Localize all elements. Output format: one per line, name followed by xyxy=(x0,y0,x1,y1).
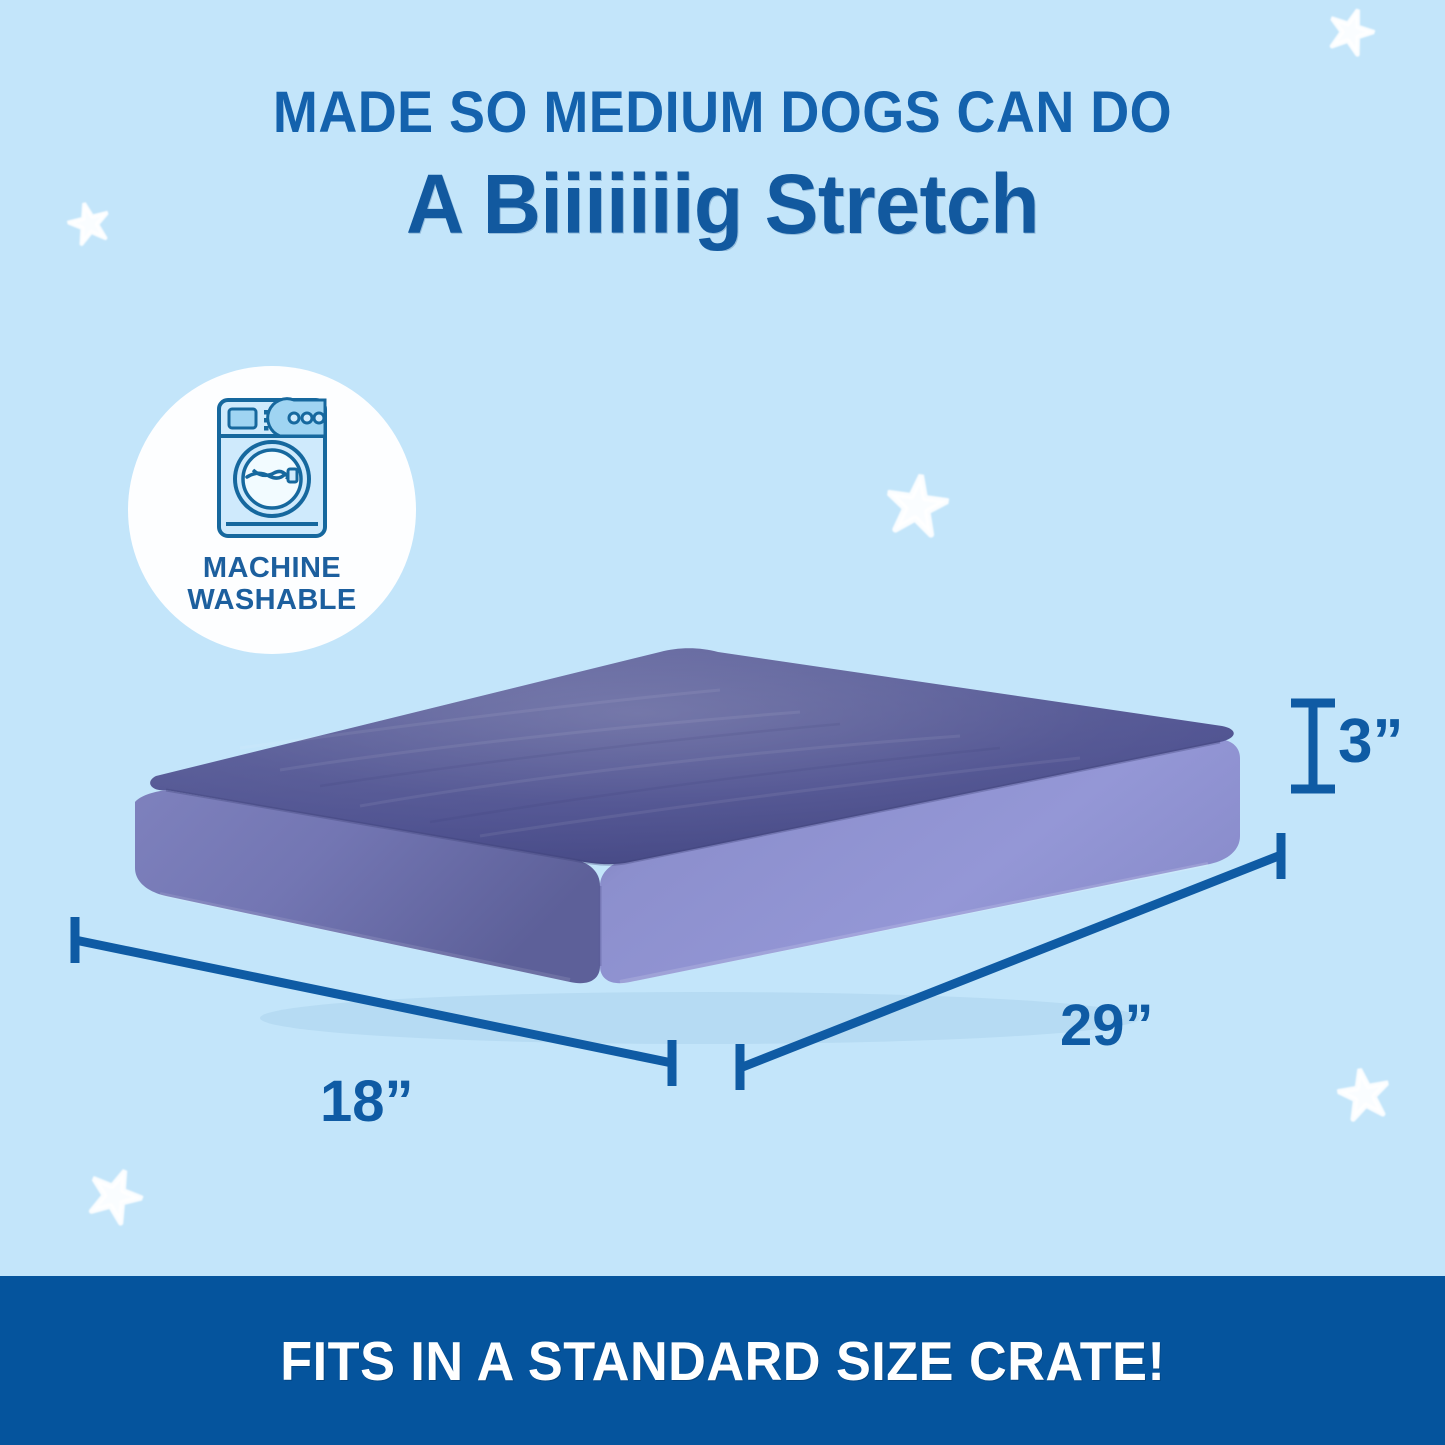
dimension-label-height: 3” xyxy=(1338,706,1403,777)
washing-machine-icon xyxy=(214,396,330,542)
badge-line-1: MACHINE xyxy=(187,552,356,584)
star-icon xyxy=(1322,2,1380,60)
machine-washable-label: MACHINE WASHABLE xyxy=(187,552,356,617)
machine-washable-badge: MACHINE WASHABLE xyxy=(128,366,416,654)
infographic-canvas: MADE SO MEDIUM DOGS CAN DO A Biiiiiiig S… xyxy=(0,0,1445,1445)
star-icon xyxy=(1334,1064,1394,1124)
headline-main: A Biiiiiiig Stretch xyxy=(29,162,1416,246)
dimension-label-width: 18” xyxy=(320,1068,414,1135)
badge-line-2: WASHABLE xyxy=(187,584,356,616)
headline-kicker: MADE SO MEDIUM DOGS CAN DO xyxy=(51,84,1395,142)
star-icon xyxy=(80,1160,150,1230)
star-icon xyxy=(882,470,952,540)
dimension-label-depth: 29” xyxy=(1060,992,1154,1059)
bottom-banner-text: FITS IN A STANDARD SIZE CRATE! xyxy=(280,1329,1165,1393)
headline-block: MADE SO MEDIUM DOGS CAN DO A Biiiiiiig S… xyxy=(0,84,1445,246)
bottom-banner: FITS IN A STANDARD SIZE CRATE! xyxy=(0,1276,1445,1445)
